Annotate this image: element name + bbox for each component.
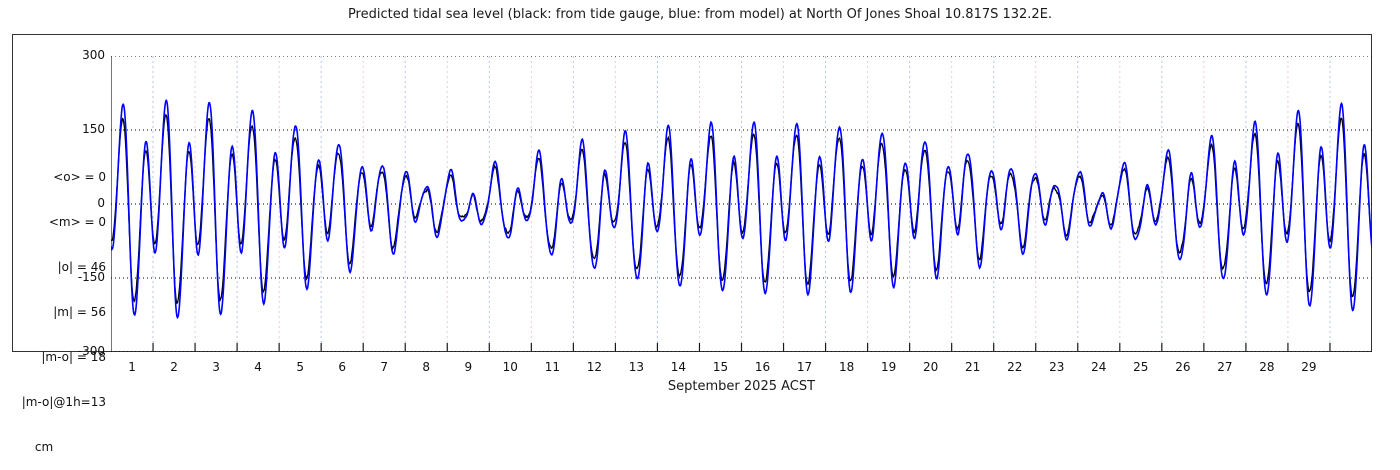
y-tick-label: 150 [49,122,105,136]
y-tick-label: 0 [49,196,105,210]
x-tick-label: 9 [448,360,488,374]
x-tick-label: 5 [280,360,320,374]
x-axis-title: September 2025 ACST [111,379,1372,394]
tidal-timeseries-svg [111,56,1372,352]
x-tick-label: 8 [406,360,446,374]
x-axis-ticks [153,343,1330,352]
x-tick-label: 14 [658,360,698,374]
x-tick-label: 13 [616,360,656,374]
x-tick-label: 25 [1121,360,1161,374]
x-tick-label: 22 [995,360,1035,374]
y-tick-label: 300 [49,48,105,62]
x-tick-label: 7 [364,360,404,374]
x-tick-label: 19 [869,360,909,374]
x-tick-label: 1 [112,360,152,374]
x-tick-label: 12 [574,360,614,374]
x-tick-label: 29 [1289,360,1329,374]
x-tick-label: 16 [743,360,783,374]
vertical-gridlines [153,56,1330,352]
y-tick-label: -150 [49,270,105,284]
x-tick-label: 4 [238,360,278,374]
x-tick-label: 20 [911,360,951,374]
y-tick-label: -300 [49,344,105,358]
x-tick-label: 27 [1205,360,1245,374]
x-tick-label: 21 [953,360,993,374]
stat-abs-diff-1h: |m-o|@1h=13 [0,395,106,410]
stat-unit: cm [0,440,106,455]
x-tick-label: 18 [827,360,867,374]
x-tick-label: 11 [532,360,572,374]
x-tick-label: 2 [154,360,194,374]
series-line-observed [111,115,1372,303]
x-tick-label: 17 [785,360,825,374]
x-tick-label: 28 [1247,360,1287,374]
x-tick-label: 24 [1079,360,1119,374]
stat-mean-model: <m> = 0 [0,215,106,230]
x-tick-label: 15 [700,360,740,374]
plot-area [111,56,1372,352]
x-tick-label: 6 [322,360,362,374]
x-tick-label: 10 [490,360,530,374]
x-tick-label: 26 [1163,360,1203,374]
x-tick-label: 23 [1037,360,1077,374]
page-title: Predicted tidal sea level (black: from t… [0,7,1400,22]
x-tick-label: 3 [196,360,236,374]
stat-mean-observed: <o> = 0 [0,170,106,185]
stat-abs-model: |m| = 56 [0,305,106,320]
statistics-block: <o> = 0 <m> = 0 |o| = 46 |m| = 56 |m-o| … [0,140,106,470]
